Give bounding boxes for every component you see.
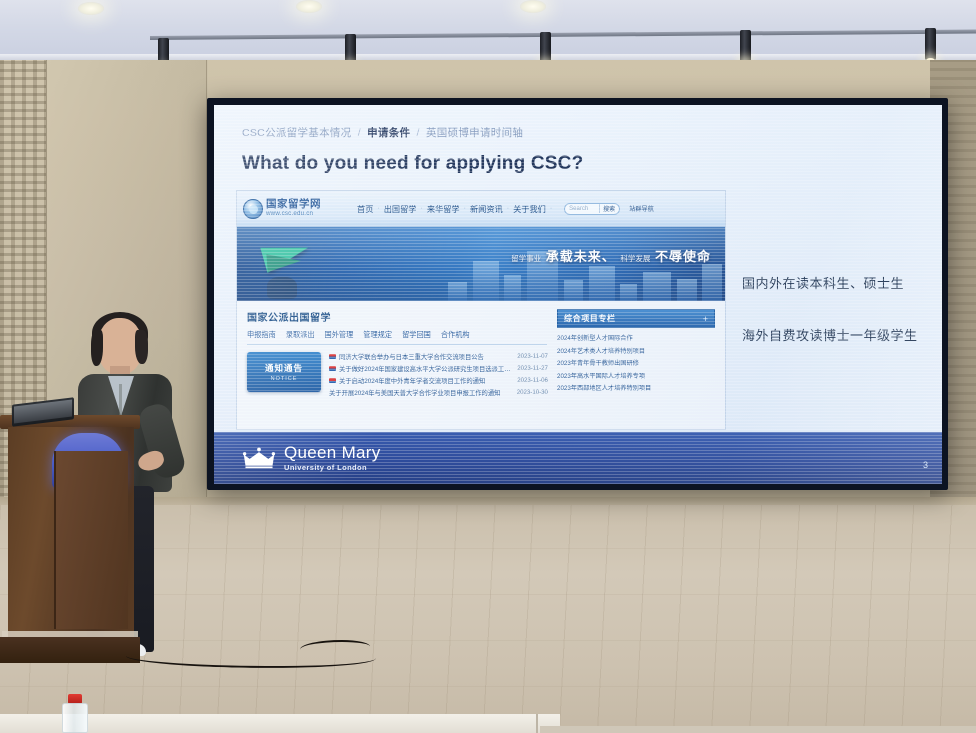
- notice-badge-label: 通知通告: [265, 362, 303, 374]
- csc-seal-icon: [243, 199, 263, 219]
- panel-list-item[interactable]: 2024年艺术类人才培养特别项目: [557, 346, 715, 355]
- panel-list-item[interactable]: 2023年高水平国际人才培养专项: [557, 371, 715, 380]
- podium-base: [0, 637, 140, 663]
- tab-application-guide[interactable]: 申报指南: [247, 330, 276, 340]
- projection-screen: CSC公派留学基本情况 / 申请条件 / 英国硕博申请时间轴 What do y…: [214, 105, 942, 484]
- nav-item-study-abroad[interactable]: 出国留学: [384, 203, 417, 215]
- banner-slogan-big-1: 承载未来、: [546, 249, 616, 264]
- search-input[interactable]: Search: [569, 206, 599, 212]
- nav-separator-icon: ·: [421, 205, 423, 212]
- new-flag-icon: [329, 366, 336, 371]
- slide-annotation-2: 海外自费攻读博士一年级学生: [742, 325, 918, 344]
- tab-return-home[interactable]: 留学回国: [402, 330, 431, 340]
- notice-badge-sub: NOTICE: [271, 376, 298, 382]
- news-item[interactable]: 关于做好2024年国家建设高水平大学公派研究生项目选派工作的通知 2023-11…: [329, 364, 548, 373]
- foreground-table-edge: [540, 726, 976, 733]
- notice-badge[interactable]: 通知通告 NOTICE: [247, 352, 321, 392]
- laptop-screen: [14, 399, 72, 423]
- news-list: 同济大学联合举办与日本三重大学合作交流项目公告 2023-11-07 关于做好2…: [329, 352, 548, 400]
- hand-graphic: [267, 277, 297, 299]
- csc-website-screenshot: 国家留学网 www.csc.edu.cn 首页 · 出国留学 · 来华留学 · …: [236, 190, 726, 430]
- slide-annotation-1: 国内外在读本科生、硕士生: [742, 273, 904, 292]
- paper-plane-shadow: [266, 252, 301, 272]
- crown-icon: [242, 447, 276, 469]
- panel-list-item[interactable]: 2023年青年骨干教师出国研修: [557, 358, 715, 367]
- news-item[interactable]: 关于启动2024年度中外青年学者交流项目工作的通知 2023-11-06: [329, 376, 548, 385]
- presentation-slide: CSC公派留学基本情况 / 申请条件 / 英国硕博申请时间轴 What do y…: [214, 105, 942, 484]
- project-panel-list: 2024年创新型人才国际合作 2024年艺术类人才培养特别项目 2023年青年骨…: [557, 333, 715, 392]
- nav-separator-icon: ·: [550, 205, 552, 212]
- project-panel-header[interactable]: 综合项目专栏 +: [557, 309, 715, 328]
- floor-cable-end: [300, 640, 370, 656]
- breadcrumb-item-2-active: 申请条件: [367, 127, 410, 139]
- news-title[interactable]: 同济大学联合举办与日本三重大学合作交流项目公告: [339, 352, 514, 361]
- website-header: 国家留学网 www.csc.edu.cn 首页 · 出国留学 · 来华留学 · …: [237, 191, 725, 227]
- presentation-room-photo: CSC公派留学基本情况 / 申请条件 / 英国硕博申请时间轴 What do y…: [0, 0, 976, 733]
- queen-mary-wordmark: Queen Mary University of London: [284, 444, 381, 472]
- search-button[interactable]: 搜索: [599, 204, 615, 213]
- content-right-column: 综合项目专栏 + 2024年创新型人才国际合作 2024年艺术类人才培养特别项目…: [557, 309, 715, 423]
- ceiling-spotlight: [925, 28, 936, 60]
- news-date: 2023-10-30: [517, 389, 548, 396]
- section-tabs[interactable]: 申报指南 录取派出 国外管理 管理规定 留学回国 合作机构: [247, 330, 547, 345]
- recessed-downlight: [520, 0, 546, 13]
- search-box[interactable]: Search 搜索: [564, 203, 620, 215]
- projection-screen-frame: CSC公派留学基本情况 / 申请条件 / 英国硕博申请时间轴 What do y…: [207, 98, 948, 490]
- banner-slogan-small-2: 科学发展: [620, 254, 650, 263]
- slide-footer: Queen Mary University of London: [214, 432, 942, 484]
- bottle-body: [62, 703, 88, 733]
- new-flag-icon: [329, 354, 336, 359]
- notice-area: 通知通告 NOTICE 同济大学联合举办与日本三重大学合作交流项目公告 2023…: [247, 352, 547, 400]
- breadcrumb-separator: /: [355, 127, 364, 139]
- nav-item-about-us[interactable]: 关于我们: [513, 203, 546, 215]
- nav-item-home[interactable]: 首页: [357, 203, 373, 215]
- banner-slogan-big-2: 不辱使命: [655, 249, 711, 264]
- news-item[interactable]: 关于开展2024年与美国天普大学合作学业项目申报工作的通知 2023-10-30: [329, 388, 548, 397]
- banner-slogan: 留学事业 承载未来、 科学发展 不辱使命: [511, 246, 711, 265]
- podium-body: [8, 427, 134, 639]
- csc-logo-text: 国家留学网 www.csc.edu.cn: [266, 199, 321, 217]
- breadcrumb-separator: /: [414, 127, 423, 139]
- nav-separator-icon: ·: [507, 205, 509, 212]
- table-seam: [536, 714, 538, 733]
- nav-item-study-in-china[interactable]: 来华留学: [427, 203, 460, 215]
- water-bottle: [62, 694, 88, 733]
- project-panel-title: 综合项目专栏: [564, 313, 616, 324]
- content-left-column: 国家公派出国留学 申报指南 录取派出 国外管理 管理规定 留学回国 合作机构: [247, 309, 547, 423]
- brand-name: Queen Mary: [284, 444, 381, 461]
- news-item[interactable]: 同济大学联合举办与日本三重大学合作交流项目公告 2023-11-07: [329, 352, 548, 361]
- slide-page-number: 3: [923, 460, 928, 470]
- recessed-downlight: [78, 2, 104, 15]
- ceiling-spotlight: [740, 30, 751, 62]
- slide-title: What do you need for applying CSC?: [242, 153, 583, 175]
- nav-separator-icon: ·: [377, 205, 379, 212]
- expand-plus-icon[interactable]: +: [703, 314, 708, 324]
- tab-admission-dispatch[interactable]: 录取派出: [286, 330, 315, 340]
- website-content: 国家公派出国留学 申报指南 录取派出 国外管理 管理规定 留学回国 合作机构: [237, 301, 725, 430]
- brand-subtitle: University of London: [284, 464, 381, 472]
- csc-logo-url: www.csc.edu.cn: [266, 211, 321, 217]
- csc-logo: 国家留学网 www.csc.edu.cn: [243, 199, 321, 219]
- panel-list-item[interactable]: 2023年西部地区人才培养特别项目: [557, 383, 715, 392]
- news-title[interactable]: 关于开展2024年与美国天普大学合作学业项目申报工作的通知: [329, 388, 514, 397]
- csc-logo-name: 国家留学网: [266, 199, 321, 210]
- website-hero-banner: 留学事业 承载未来、 科学发展 不辱使命: [237, 227, 725, 301]
- slide-breadcrumb: CSC公派留学基本情况 / 申请条件 / 英国硕博申请时间轴: [242, 125, 523, 140]
- site-group-nav-link[interactable]: 站群导航: [629, 204, 654, 213]
- breadcrumb-item-3: 英国硕博申请时间轴: [426, 127, 523, 139]
- nav-item-news[interactable]: 新闻资讯: [470, 203, 503, 215]
- new-flag-icon: [329, 378, 336, 383]
- news-date: 2023-11-06: [517, 377, 548, 384]
- news-date: 2023-11-27: [517, 365, 548, 372]
- nav-separator-icon: ·: [464, 205, 466, 212]
- section-title: 国家公派出国留学: [247, 309, 547, 324]
- news-title[interactable]: 关于启动2024年度中外青年学者交流项目工作的通知: [339, 376, 514, 385]
- news-title[interactable]: 关于做好2024年国家建设高水平大学公派研究生项目选派工作的通知: [339, 364, 514, 373]
- presenter-hair-right: [135, 330, 148, 364]
- website-nav[interactable]: 首页 · 出国留学 · 来华留学 · 新闻资讯 · 关于我们 · Search: [357, 203, 654, 215]
- podium-front-panel: [54, 451, 128, 629]
- queen-mary-logo: Queen Mary University of London: [242, 444, 381, 472]
- tab-partners[interactable]: 合作机构: [441, 330, 470, 340]
- tab-overseas-management[interactable]: 国外管理: [325, 330, 354, 340]
- tab-regulations[interactable]: 管理规定: [363, 330, 392, 340]
- recessed-downlight: [296, 0, 322, 13]
- lectern-podium: [0, 415, 140, 667]
- panel-list-item[interactable]: 2024年创新型人才国际合作: [557, 333, 715, 342]
- banner-slogan-small-1: 留学事业: [511, 254, 541, 263]
- breadcrumb-item-1: CSC公派留学基本情况: [242, 127, 351, 139]
- news-date: 2023-11-07: [517, 353, 548, 360]
- presenter-hair-left: [91, 330, 103, 366]
